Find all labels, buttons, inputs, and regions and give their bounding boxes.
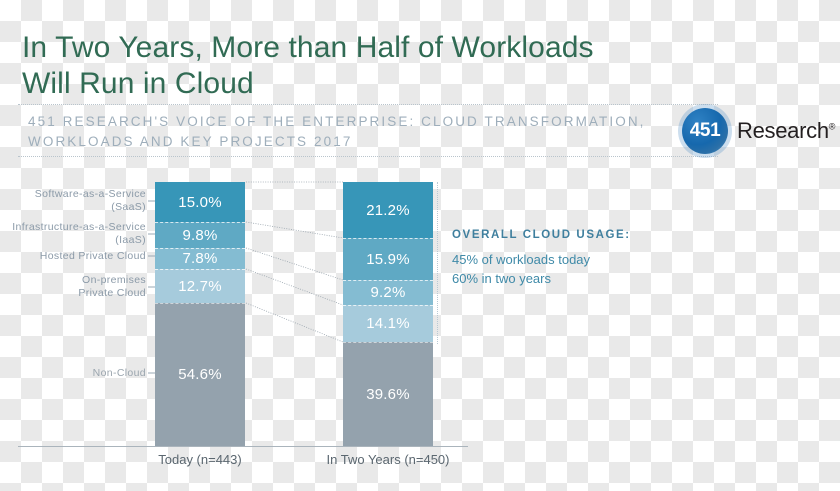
category-label-on-premises-line1: On-premises — [0, 274, 146, 287]
overall-cloud-usage-callout: Overall Cloud Usage: 45% of workloads to… — [452, 228, 632, 288]
leader-dash-on-premises-private-cloud — [148, 286, 155, 287]
segment-twoyears-on-premises-private-cloud: 14.1% — [343, 305, 433, 342]
leader-dash-saas — [148, 200, 155, 201]
category-label-on-premises-line2: Private Cloud — [0, 287, 146, 300]
x-axis-baseline — [18, 446, 468, 447]
leader-dash-iaas — [148, 233, 155, 234]
segment-today-saas: 15.0% — [155, 182, 245, 222]
bar-two-years: 21.2% 15.9% 9.2% 14.1% 39.6% — [343, 182, 433, 446]
category-label-iaas-line1: Infrastructure-as-a-Service — [0, 221, 146, 234]
segment-twoyears-iaas: 15.9% — [343, 238, 433, 280]
segment-today-on-premises-private-cloud: 12.7% — [155, 269, 245, 303]
category-label-non-cloud-line1: Non-Cloud — [0, 367, 146, 380]
category-label-on-premises-private-cloud: On-premises Private Cloud — [0, 274, 146, 299]
stacked-bar-chart: 15.0% 9.8% 7.8% 12.7% 54.6% 21.2% 15.9% … — [0, 0, 840, 491]
category-label-saas: Software-as-a-Service (SaaS) — [0, 188, 146, 213]
category-label-iaas: Infrastructure-as-a-Service (IaaS) — [0, 221, 146, 246]
callout-heading: Overall Cloud Usage: — [452, 228, 632, 243]
bar-today: 15.0% 9.8% 7.8% 12.7% 54.6% — [155, 182, 245, 446]
axis-label-today: Today (n=443) — [100, 452, 300, 467]
category-label-saas-line1: Software-as-a-Service — [0, 188, 146, 201]
segment-twoyears-hosted-private-cloud: 9.2% — [343, 280, 433, 305]
callout-line-today: 45% of workloads today — [452, 250, 632, 269]
segment-today-iaas: 9.8% — [155, 222, 245, 248]
callout-vertical-rule — [437, 182, 438, 344]
category-label-hosted-private-cloud: Hosted Private Cloud — [0, 250, 146, 263]
category-label-hosted-private-cloud-line1: Hosted Private Cloud — [0, 250, 146, 263]
callout-line-two-years: 60% in two years — [452, 269, 632, 288]
leader-dash-non-cloud — [148, 373, 155, 374]
category-label-non-cloud: Non-Cloud — [0, 367, 146, 380]
segment-today-hosted-private-cloud: 7.8% — [155, 248, 245, 269]
axis-label-two-years: In Two Years (n=450) — [288, 452, 488, 467]
segment-twoyears-non-cloud: 39.6% — [343, 342, 433, 446]
segment-twoyears-saas: 21.2% — [343, 182, 433, 238]
category-label-saas-line2: (SaaS) — [0, 201, 146, 214]
leader-dash-hosted-private-cloud — [148, 256, 155, 257]
segment-today-non-cloud: 54.6% — [155, 303, 245, 446]
infographic-canvas: In Two Years, More than Half of Workload… — [0, 0, 840, 491]
category-label-iaas-line2: (IaaS) — [0, 234, 146, 247]
